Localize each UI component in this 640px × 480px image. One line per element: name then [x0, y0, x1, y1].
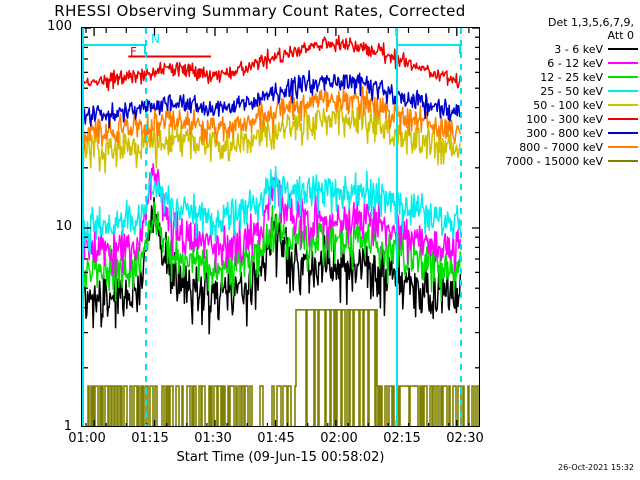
- legend-entry: 300 - 800 keV: [486, 126, 638, 140]
- legend-entry-swatch: [608, 62, 638, 65]
- x-tick-label-5: 02:15: [383, 431, 420, 446]
- x-tick-label-0: 01:00: [68, 431, 105, 446]
- annotation-n: N: [151, 32, 160, 46]
- y-tick-label-10: 10: [38, 219, 72, 234]
- legend-entry: 12 - 25 keV: [486, 70, 638, 84]
- legend-entry-label: 800 - 7000 keV: [519, 141, 608, 154]
- legend-entry: 800 - 7000 keV: [486, 140, 638, 154]
- legend-entries: 3 - 6 keV6 - 12 keV12 - 25 keV25 - 50 ke…: [486, 42, 638, 168]
- legend-entry-label: 25 - 50 keV: [540, 85, 608, 98]
- legend-detectors: Det 1,3,5,6,7,9,: [486, 16, 638, 29]
- x-tick-label-3: 01:45: [257, 431, 294, 446]
- legend-entry-label: 50 - 100 keV: [533, 99, 608, 112]
- legend-entry-label: 300 - 800 keV: [526, 127, 608, 140]
- legend-entry-swatch: [608, 160, 638, 163]
- x-tick-label-2: 01:30: [194, 431, 231, 446]
- y-tick-label-1: 1: [38, 419, 72, 434]
- x-tick-label-4: 02:00: [320, 431, 357, 446]
- plot-area: NF: [81, 27, 480, 427]
- legend-entry: 100 - 300 keV: [486, 112, 638, 126]
- plot-canvas: NF: [82, 28, 479, 426]
- night-end-line: [145, 28, 147, 426]
- x-tick-label-1: 01:15: [131, 431, 168, 446]
- legend-entry-swatch: [608, 90, 638, 93]
- legend-entry-label: 3 - 6 keV: [554, 43, 608, 56]
- legend-entry: 6 - 12 keV: [486, 56, 638, 70]
- annotation-f: F: [130, 45, 137, 59]
- legend-entry-label: 7000 - 15000 keV: [505, 155, 608, 168]
- legend-entry-swatch: [608, 76, 638, 79]
- legend-entry: 3 - 6 keV: [486, 42, 638, 56]
- legend-entry-label: 100 - 300 keV: [526, 113, 608, 126]
- event-overlays: NF: [82, 28, 479, 426]
- night-end-line: [460, 28, 462, 426]
- x-axis-title: Start Time (09-Jun-15 00:58:02): [81, 450, 480, 465]
- legend-entry-label: 12 - 25 keV: [540, 71, 608, 84]
- night-bar: [396, 44, 460, 46]
- legend-attenuator: Att 0: [486, 29, 638, 42]
- legend: Det 1,3,5,6,7,9, Att 0 3 - 6 keV6 - 12 k…: [486, 16, 638, 168]
- legend-entry-swatch: [608, 118, 638, 121]
- render-timestamp: 26-Oct-2021 15:32: [558, 463, 634, 472]
- legend-entry: 50 - 100 keV: [486, 98, 638, 112]
- legend-entry-swatch: [608, 132, 638, 135]
- legend-entry: 7000 - 15000 keV: [486, 154, 638, 168]
- x-tick-label-6: 02:30: [446, 431, 483, 446]
- rhessi-plot-page: RHESSI Observing Summary Count Rates, Co…: [0, 0, 640, 480]
- legend-entry-label: 6 - 12 keV: [547, 57, 608, 70]
- legend-entry: 25 - 50 keV: [486, 84, 638, 98]
- legend-entry-swatch: [608, 104, 638, 107]
- legend-entry-swatch: [608, 146, 638, 149]
- night-start-line: [396, 28, 398, 426]
- night-start-line: [82, 28, 84, 426]
- legend-entry-swatch: [608, 48, 638, 51]
- y-tick-label-100: 100: [38, 19, 72, 34]
